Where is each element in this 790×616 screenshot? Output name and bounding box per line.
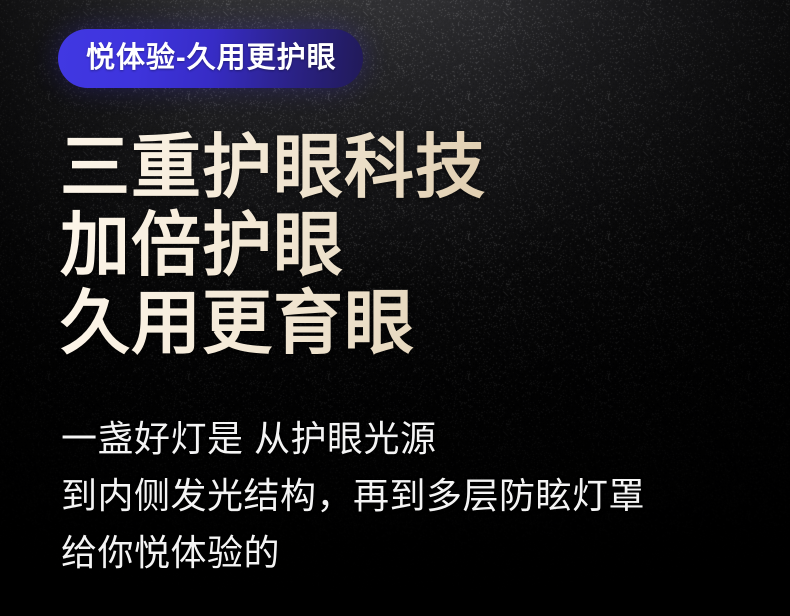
headline-line-3: 久用更育眼 — [60, 284, 740, 362]
headline-block: 三重护眼科技 加倍护眼 久用更育眼 — [60, 128, 740, 362]
body-copy-block: 一盏好灯是 从护眼光源 到内侧发光结构，再到多层防眩灯罩 给你悦体验的 — [61, 410, 761, 581]
headline-line-1: 三重护眼科技 — [60, 128, 740, 206]
body-copy-line-2: 到内侧发光结构，再到多层防眩灯罩 — [61, 467, 761, 524]
section-badge-label: 悦体验-久用更护眼 — [86, 44, 337, 73]
body-copy-line-3: 给你悦体验的 — [61, 524, 761, 581]
promo-poster: 悦体验-久用更护眼 三重护眼科技 加倍护眼 久用更育眼 一盏好灯是 从护眼光源 … — [0, 0, 790, 616]
body-copy-line-1: 一盏好灯是 从护眼光源 — [61, 410, 761, 467]
headline-line-2: 加倍护眼 — [60, 206, 740, 284]
section-badge: 悦体验-久用更护眼 — [58, 29, 363, 88]
